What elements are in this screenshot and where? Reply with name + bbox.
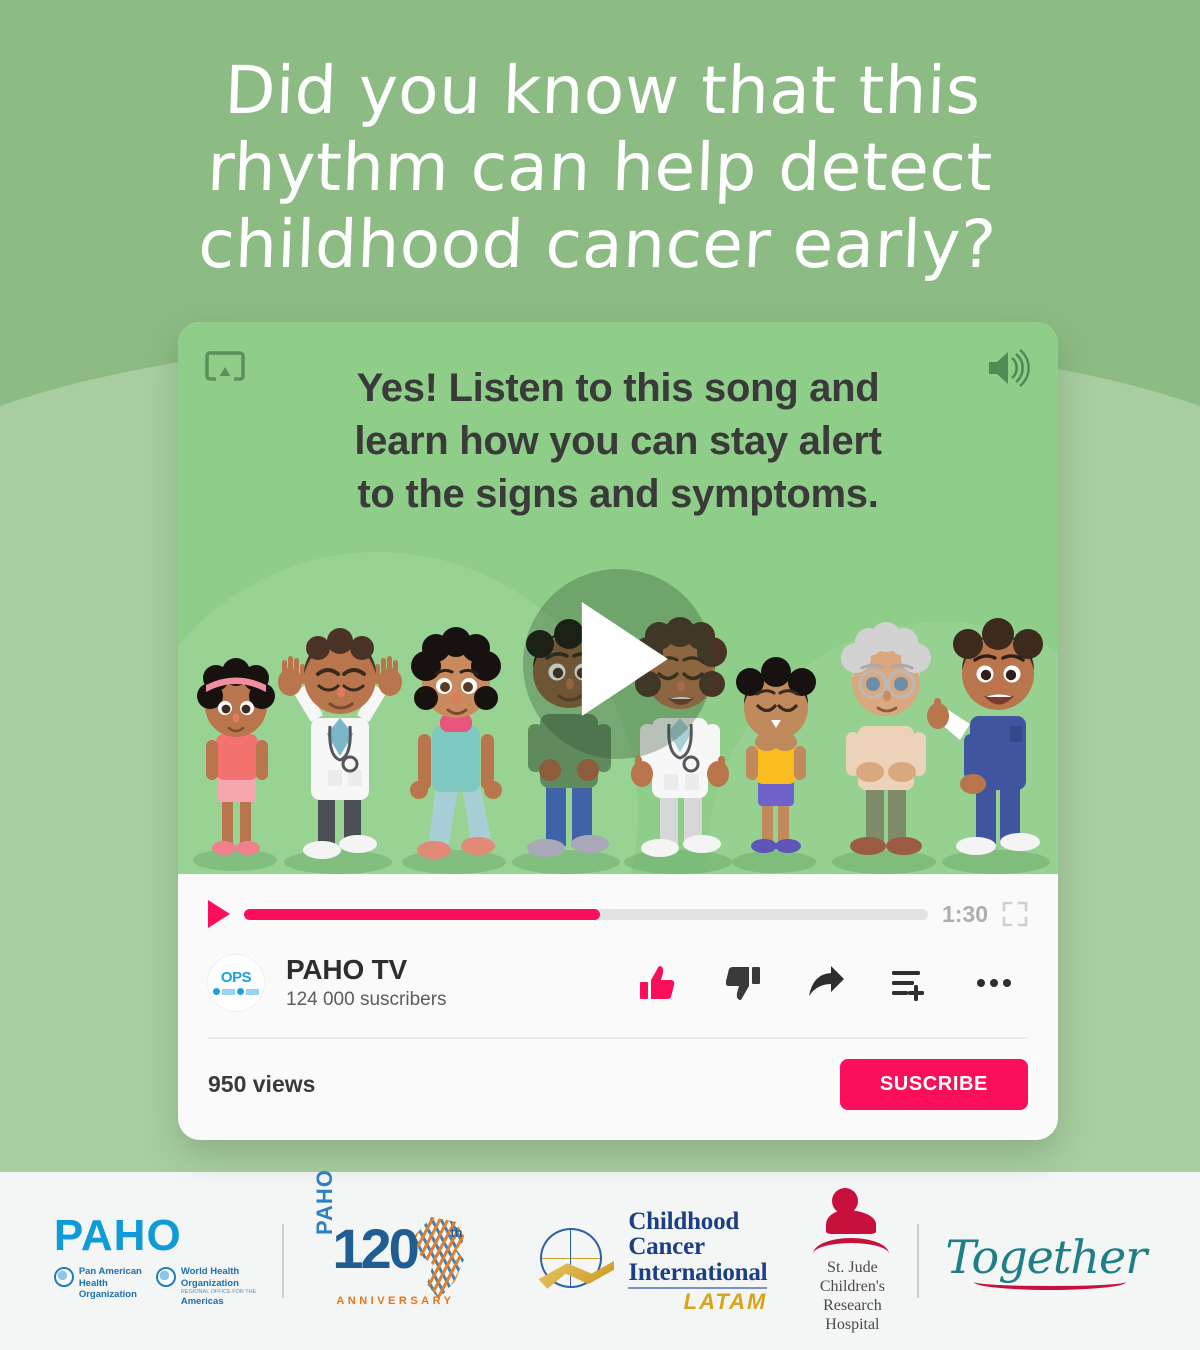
paho-wordmark: PAHO [54,1214,257,1258]
progress-fill [244,909,600,920]
headline-line-3: childhood cancer early? [76,206,1119,283]
cci-line-3: International [628,1260,767,1286]
avatar-bar-2 [246,989,259,995]
paho-org2-text: World Health Organization REGIONAL OFFIC… [181,1266,256,1307]
paho-logo: PAHO Pan American Health Organization Wo… [54,1214,257,1307]
paho-120-anniversary-logo: PAHO 120 th ANNIVERSARY [310,1213,478,1309]
subscribe-button[interactable]: SUSCRIBE [840,1059,1028,1110]
world-health-org: World Health Organization REGIONAL OFFIC… [156,1266,256,1307]
childhood-cancer-international-logo: Childhood Cancer International LATAM [538,1209,767,1314]
st-jude-mark: St. Jude Children's Research Hospital [813,1188,891,1335]
anniversary-ordinal: th [450,1225,462,1240]
cci-globe-icon [538,1222,616,1300]
paho-org1-line3: Organization [79,1289,142,1301]
like-icon[interactable] [638,963,678,1003]
paho-sublogos: Pan American Health Organization World H… [54,1266,257,1307]
progress-row[interactable]: 1:30 [208,900,1028,928]
headline-line-1: Did you know that this [81,52,1124,129]
avatar-dot-2 [237,988,244,995]
video-viewport[interactable]: Yes! Listen to this song and learn how y… [178,322,1058,874]
cci-text: Childhood Cancer International LATAM [628,1209,767,1314]
paho-org1-text: Pan American Health Organization [79,1266,142,1301]
play-button[interactable] [208,900,230,928]
paho-org1-line2: Health [79,1278,142,1290]
fullscreen-icon[interactable] [1002,901,1028,927]
st-jude-arc [813,1238,889,1254]
add-to-queue-icon[interactable] [890,963,930,1003]
paho-org2-line2: Organization [181,1278,256,1290]
anniversary-number: 120 [332,1221,416,1277]
view-count: 950 views [208,1071,315,1098]
st-jude-body [826,1210,876,1234]
play-icon[interactable] [582,602,668,716]
player-controls[interactable]: 1:30 [178,874,1058,928]
caption-line-2: learn how you can stay alert [250,415,986,468]
cci-line-1: Childhood [628,1209,767,1235]
avatar-dot-1 [213,988,220,995]
paho-org2-tiny: REGIONAL OFFICE FOR THE [181,1289,256,1296]
duration-label: 1:30 [942,901,988,928]
action-bar[interactable] [638,963,1028,1003]
globe-icon [54,1267,74,1287]
anniversary-word: ANNIVERSARY [336,1295,454,1307]
st-jude-text: St. Jude Children's Research Hospital [813,1258,891,1335]
more-options-icon[interactable] [974,963,1014,1003]
dislike-icon[interactable] [722,963,762,1003]
together-logo: Together [945,1230,1146,1292]
video-stats-row: 950 views SUSCRIBE [178,1039,1058,1140]
cci-latam: LATAM [628,1287,767,1313]
headline-line-2: rhythm can help detect [79,129,1122,206]
avatar-bar-1 [222,989,235,995]
st-jude-child-icon [822,1188,882,1240]
logo-divider-1 [282,1224,284,1298]
channel-row[interactable]: OPS PAHO TV 124 000 suscribers [178,928,1058,1011]
logo-divider-2 [917,1224,919,1298]
who-globe-icon [156,1267,176,1287]
channel-meta: PAHO TV 124 000 suscribers [286,954,447,1011]
channel-name[interactable]: PAHO TV [286,954,447,986]
avatar-label: OPS [221,970,251,985]
share-icon[interactable] [806,963,846,1003]
pan-american-health-org: Pan American Health Organization [54,1266,142,1301]
page-title: Did you know that this rhythm can help d… [0,52,1200,284]
st-jude-line-2: Research Hospital [813,1296,891,1334]
partner-logo-bar: PAHO Pan American Health Organization Wo… [0,1172,1200,1350]
avatar[interactable]: OPS [208,955,264,1011]
st-jude-logo: St. Jude Children's Research Hospital [813,1188,891,1335]
st-jude-line-1: St. Jude Children's [813,1258,891,1296]
cci-line-2: Cancer [628,1234,767,1260]
avatar-sublogos [213,988,259,995]
paho-org1-line1: Pan American [79,1266,142,1278]
paho-org2-line3: Americas [181,1296,256,1308]
caption-line-1: Yes! Listen to this song and [250,362,986,415]
progress-track[interactable] [244,909,928,920]
video-player-card[interactable]: Yes! Listen to this song and learn how y… [178,322,1058,1140]
video-caption: Yes! Listen to this song and learn how y… [178,322,1058,522]
caption-line-3: to the signs and symptoms. [250,468,986,521]
channel-subscribers: 124 000 suscribers [286,989,447,1011]
paho-org2-line1: World Health [181,1266,256,1278]
